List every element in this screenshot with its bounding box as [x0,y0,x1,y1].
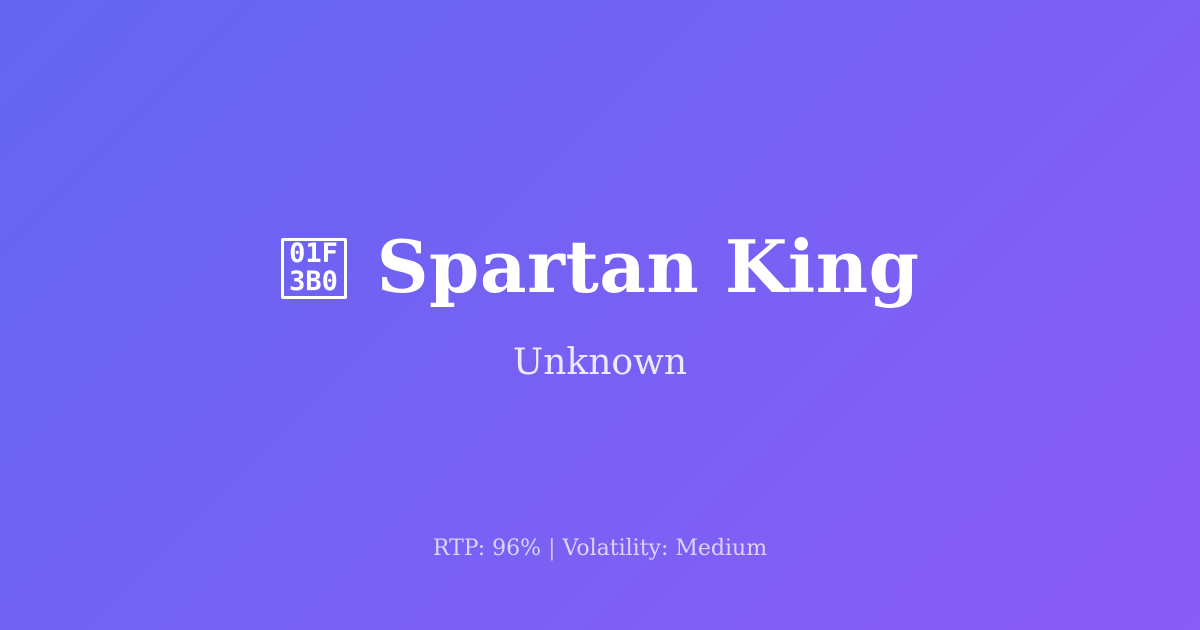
game-provider: Unknown [513,341,687,385]
stats-separator: | [541,536,562,561]
game-stats-footer: RTP: 96%|Volatility: Medium [0,535,1200,563]
codepoint-line-lower: 3B0 [289,268,338,296]
game-preview-card: 01F 3B0 Spartan King Unknown RTP: 96%|Vo… [0,0,1200,630]
game-title-row: 01F 3B0 Spartan King [281,227,920,307]
game-title: Spartan King [377,227,920,307]
game-hero-block: 01F 3B0 Spartan King Unknown [281,227,920,385]
volatility-stat: Volatility: Medium [563,536,768,561]
rtp-stat: RTP: 96% [433,536,541,561]
codepoint-line-upper: 01F [289,240,338,268]
slot-machine-icon: 01F 3B0 [281,238,347,299]
